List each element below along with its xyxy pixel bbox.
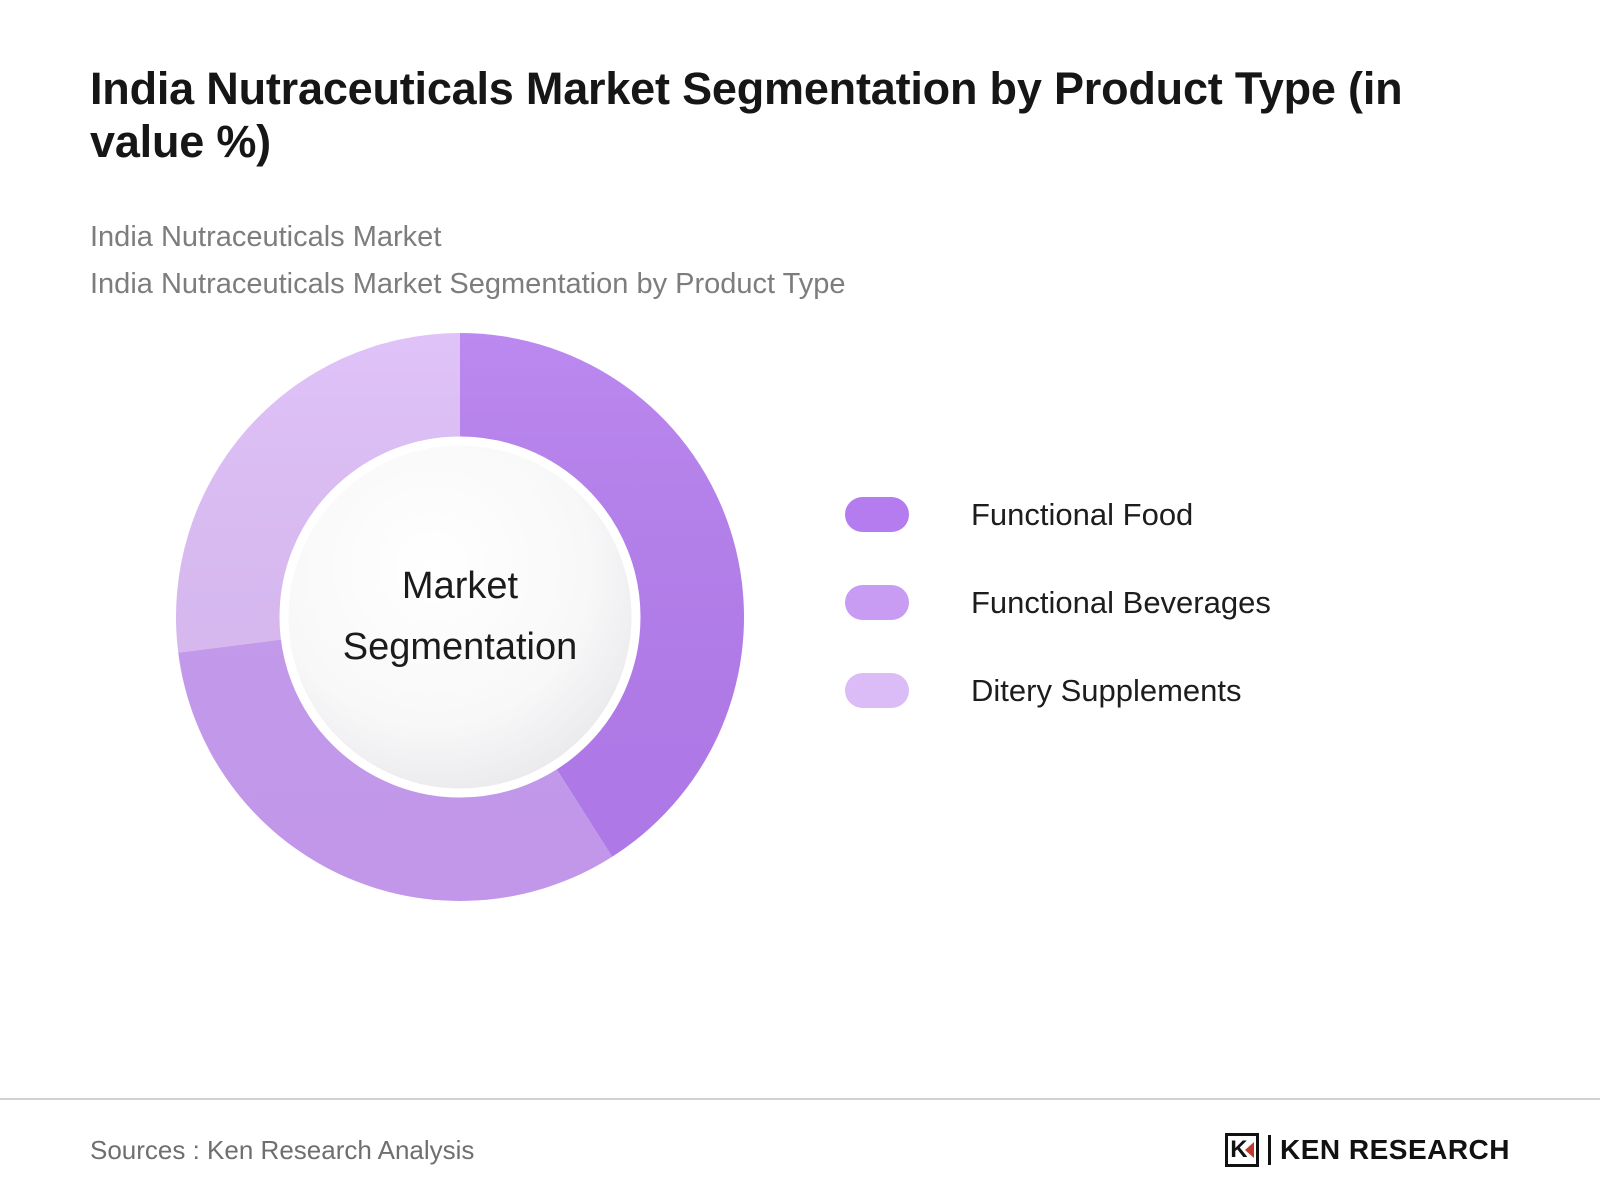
chart-header: India Nutraceuticals Market Segmentation… bbox=[0, 0, 1600, 307]
legend-swatch-icon bbox=[845, 497, 909, 532]
ken-research-logo: K KEN RESEARCH bbox=[1225, 1133, 1510, 1167]
legend-item[interactable]: Functional Food bbox=[845, 497, 1271, 533]
donut-svg bbox=[168, 325, 752, 909]
page-title: India Nutraceuticals Market Segmentation… bbox=[90, 62, 1420, 168]
legend-swatch-icon bbox=[845, 585, 909, 620]
chart-legend: Functional FoodFunctional BeveragesDiter… bbox=[845, 497, 1271, 709]
logo-triangle-icon bbox=[1245, 1142, 1254, 1158]
source-note: Sources : Ken Research Analysis bbox=[90, 1135, 474, 1166]
legend-item[interactable]: Ditery Supplements bbox=[845, 673, 1271, 709]
logo-k-badge-icon: K bbox=[1225, 1133, 1259, 1167]
logo-divider bbox=[1268, 1135, 1271, 1165]
legend-swatch-icon bbox=[845, 673, 909, 708]
logo-wordmark: KEN RESEARCH bbox=[1280, 1134, 1510, 1166]
donut-hub bbox=[284, 441, 636, 793]
subtitle-block: India Nutraceuticals Market India Nutrac… bbox=[90, 214, 1510, 307]
legend-item-label: Ditery Supplements bbox=[971, 673, 1242, 709]
legend-item-label: Functional Beverages bbox=[971, 585, 1271, 621]
subtitle-line-2: India Nutraceuticals Market Segmentation… bbox=[90, 261, 1510, 307]
legend-item[interactable]: Functional Beverages bbox=[845, 585, 1271, 621]
chart-body: Market Segmentation Functional FoodFunct… bbox=[0, 307, 1600, 1200]
chart-footer: Sources : Ken Research Analysis K KEN RE… bbox=[0, 1098, 1600, 1200]
chart-page: India Nutraceuticals Market Segmentation… bbox=[0, 0, 1600, 1200]
donut-chart: Market Segmentation bbox=[168, 325, 752, 909]
subtitle-line-1: India Nutraceuticals Market bbox=[90, 214, 1510, 260]
legend-item-label: Functional Food bbox=[971, 497, 1193, 533]
